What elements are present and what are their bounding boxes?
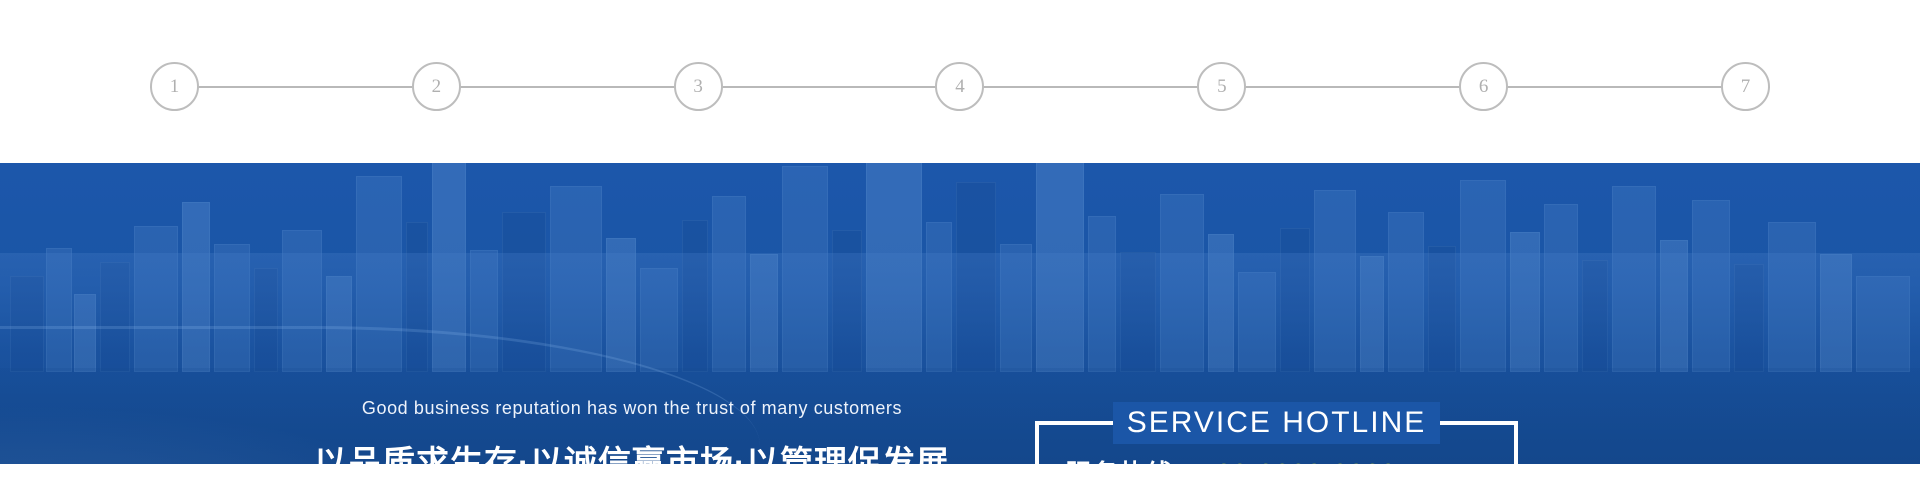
step-pagination: 1 2 3 4 5 6 7 (0, 0, 1920, 163)
promo-banner: Good business reputation has won the tru… (0, 163, 1920, 464)
step-dot-3[interactable]: 3 (674, 62, 723, 111)
step-list: 1 2 3 4 5 6 7 (150, 86, 1770, 87)
step-dot-1[interactable]: 1 (150, 62, 199, 111)
step-number: 4 (955, 77, 965, 96)
step-dot-7[interactable]: 7 (1721, 62, 1770, 111)
step-dot-4[interactable]: 4 (935, 62, 984, 111)
slogan-english: Good business reputation has won the tru… (292, 398, 972, 420)
hotline-rows: 服务热线： 183-2660-0068 0551-63749777 (1039, 455, 1514, 464)
hotline-box: SERVICE HOTLINE 服务热线： 183-2660-0068 0551… (1035, 421, 1518, 464)
step-dot-2[interactable]: 2 (412, 62, 461, 111)
step-number: 1 (170, 77, 180, 96)
hotline-phone-primary[interactable]: 183-2660-0068 (1200, 455, 1396, 464)
step-number: 7 (1741, 77, 1751, 96)
page-root: 1 2 3 4 5 6 7 (0, 0, 1920, 500)
step-number: 3 (693, 77, 703, 96)
step-number: 6 (1479, 77, 1489, 96)
slogan-block: Good business reputation has won the tru… (292, 398, 972, 464)
hotline-label: 服务热线： (1065, 457, 1200, 464)
hotline-row-primary: 服务热线： 183-2660-0068 (1065, 455, 1488, 464)
step-number: 5 (1217, 77, 1227, 96)
slogan-headline: 以品质求生存·以诚信赢市场·以管理促发展 (292, 442, 972, 464)
step-dot-5[interactable]: 5 (1197, 62, 1246, 111)
step-number: 2 (432, 77, 442, 96)
step-dot-6[interactable]: 6 (1459, 62, 1508, 111)
